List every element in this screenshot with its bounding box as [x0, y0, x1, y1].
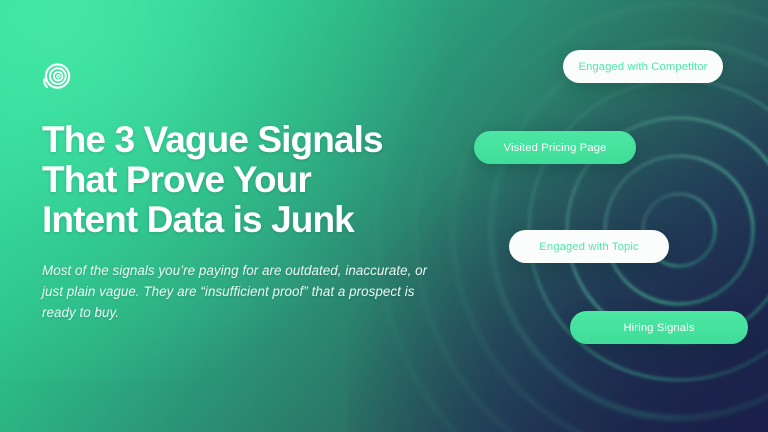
hero-content: The 3 Vague Signals That Prove Your Inte… — [42, 62, 472, 323]
signal-pill-label: Visited Pricing Page — [504, 142, 607, 154]
signal-pill-engaged-with-topic[interactable]: Engaged with Topic — [509, 230, 669, 263]
signal-pill-label: Hiring Signals — [623, 322, 694, 334]
signal-pill-hiring-signals[interactable]: Hiring Signals — [570, 311, 748, 344]
title-line-2: That Prove Your — [42, 160, 472, 200]
signal-pill-visited-pricing-page[interactable]: Visited Pricing Page — [474, 131, 636, 164]
signal-pill-label: Engaged with Topic — [539, 241, 639, 253]
hero-subtitle: Most of the signals you’re paying for ar… — [42, 260, 434, 323]
title-line-1: The 3 Vague Signals — [42, 120, 472, 160]
spiral-logo-icon — [42, 62, 72, 92]
title-line-3: Intent Data is Junk — [42, 200, 472, 240]
page-title: The 3 Vague Signals That Prove Your Inte… — [42, 120, 472, 240]
signal-pill-engaged-with-competitor[interactable]: Engaged with Competitor — [563, 50, 723, 83]
slide-canvas: The 3 Vague Signals That Prove Your Inte… — [0, 0, 768, 432]
signal-pill-label: Engaged with Competitor — [578, 61, 707, 73]
